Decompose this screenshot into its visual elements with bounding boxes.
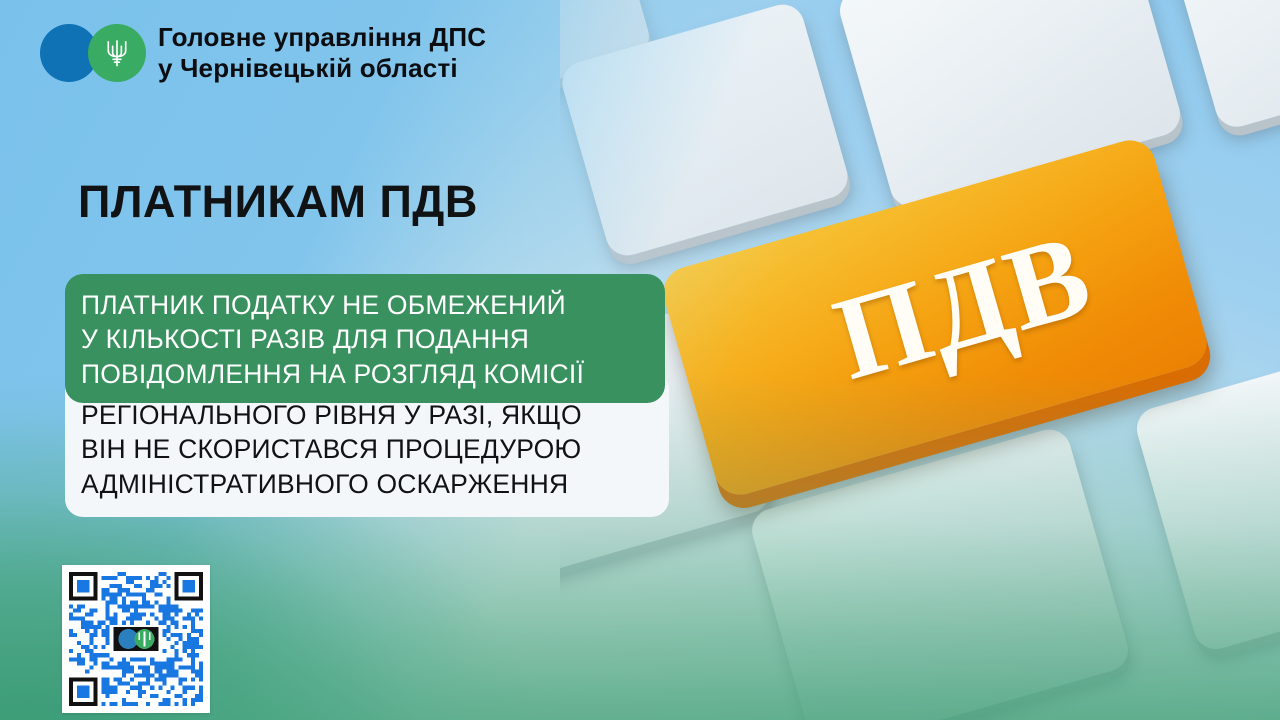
organization-name: Головне управління ДПС у Чернівецькій об…: [158, 22, 486, 83]
qr-center-logo: [114, 627, 159, 651]
message-line: АДМІНІСТРАТИВНОГО ОСКАРЖЕННЯ: [81, 467, 653, 501]
message-line: ПОВІДОМЛЕННЯ НА РОЗГЛЯД КОМІСІЇ: [81, 357, 649, 391]
brand-header: Головне управління ДПС у Чернівецькій об…: [40, 22, 486, 83]
page-title: ПЛАТНИКАМ ПДВ: [78, 176, 478, 228]
message-highlight-block: ПЛАТНИК ПОДАТКУ НЕ ОБМЕЖЕНИЙ У КІЛЬКОСТІ…: [65, 274, 665, 403]
poster-canvas: ПДВ Голов: [0, 0, 1280, 720]
message-line: ВІН НЕ СКОРИСТАВСЯ ПРОЦЕДУРОЮ: [81, 432, 653, 466]
message-line: У КІЛЬКОСТІ РАЗІВ ДЛЯ ПОДАННЯ: [81, 322, 649, 356]
qr-code-image: [69, 572, 203, 706]
dps-logo: [40, 24, 152, 82]
logo-green-circle: [88, 24, 146, 82]
keyboard-illustration: ПДВ: [560, 0, 1280, 720]
ukraine-trident-icon: [104, 38, 130, 68]
qr-code[interactable]: [62, 565, 210, 713]
message-line: ПЛАТНИК ПОДАТКУ НЕ ОБМЕЖЕНИЙ: [81, 288, 649, 322]
message-line: РЕГІОНАЛЬНОГО РІВНЯ У РАЗІ, ЯКЩО: [81, 398, 653, 432]
pdv-key-label: ПДВ: [823, 214, 1103, 398]
